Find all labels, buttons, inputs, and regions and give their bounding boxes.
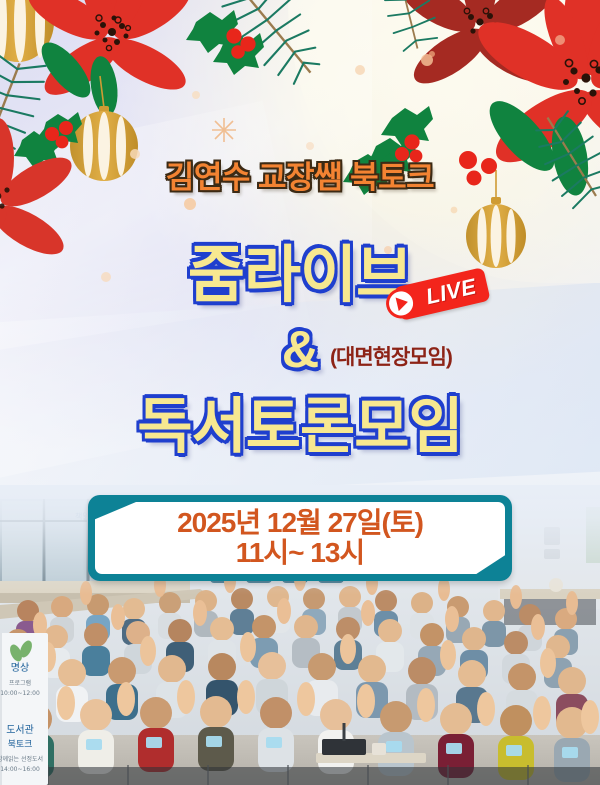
page-subtitle-speaker: 김연수 교장쌤 북토크	[0, 152, 600, 197]
gold-ornament-icon	[0, 0, 54, 62]
date-time-box: 2025년 12월 27일(토) 11시~ 13시	[88, 495, 512, 581]
date-time-inner: 2025년 12월 27일(토) 11시~ 13시	[95, 502, 505, 574]
svg-text:북토크: 북토크	[8, 739, 33, 750]
svg-text:함께읽는 선정도서: 함께읽는 선정도서	[0, 755, 43, 763]
event-poster: 책읽는	[0, 0, 600, 785]
svg-text:14:00~16:00: 14:00~16:00	[0, 766, 40, 773]
holly-berry-icon	[186, 10, 264, 75]
poinsettia-flower-icon	[21, 0, 198, 118]
svg-text:도서관: 도서관	[6, 724, 34, 736]
poinsettia-flower-icon	[393, 0, 564, 94]
snowflake-icon	[212, 118, 236, 142]
headline-book-discussion: 독서토론모임	[0, 378, 600, 465]
live-badge-label: LIVE	[423, 273, 478, 309]
event-date: 2025년 12월 27일(토)	[177, 508, 423, 538]
svg-text:명상: 명상	[11, 662, 29, 674]
pine-branch-icon	[219, 0, 331, 94]
subtitle-offline-note: (대면현장모임)	[330, 341, 560, 371]
svg-text:프로그램: 프로그램	[9, 680, 31, 687]
pine-branch-icon	[382, 0, 442, 54]
svg-text:10:00~12:00: 10:00~12:00	[0, 690, 40, 697]
headline-zoom-live: 줌라이브	[0, 224, 600, 314]
pine-branch-icon	[0, 48, 48, 167]
event-time: 11시~ 13시	[236, 538, 364, 568]
